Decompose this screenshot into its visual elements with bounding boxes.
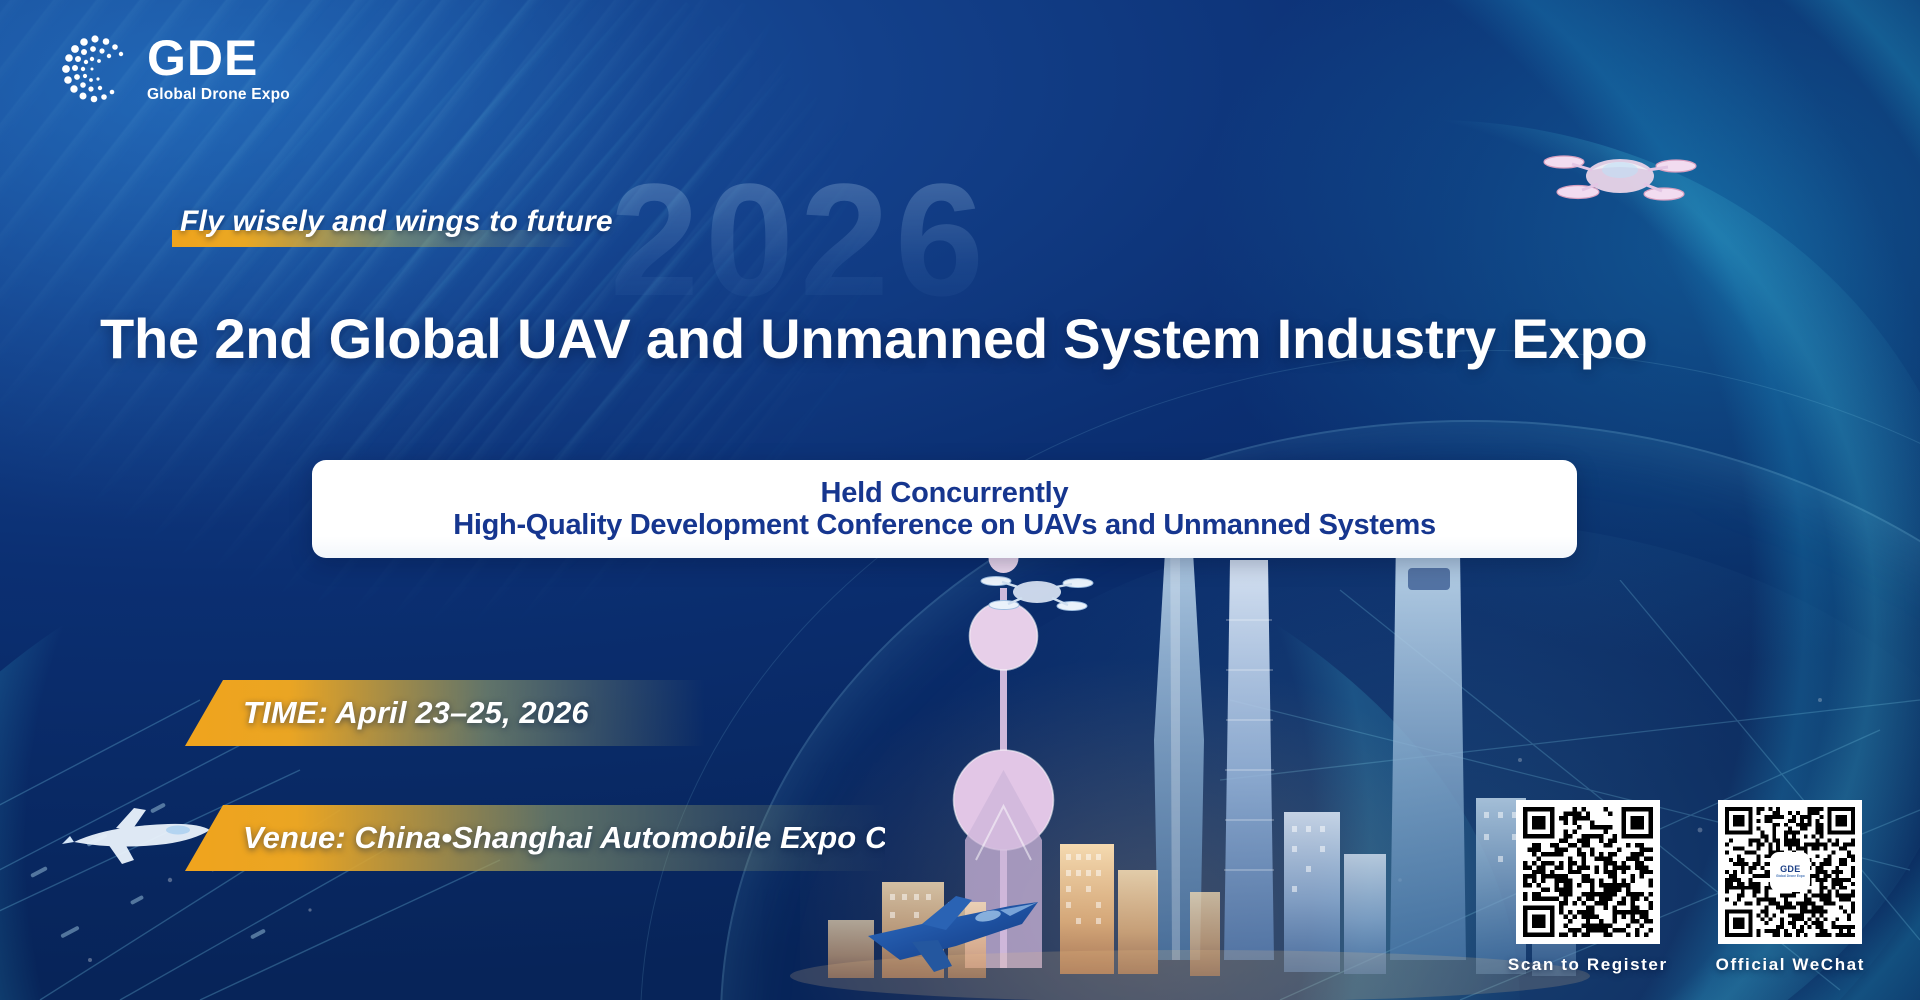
qr-center-subtitle: Global Drone Expo [1776, 875, 1805, 878]
fighter-jet [860, 890, 1045, 985]
brand-name: Global Drone Expo [147, 86, 290, 104]
qr-code-register[interactable] [1516, 800, 1660, 944]
qr-code-wechat[interactable]: GDE Global Drone Expo [1718, 800, 1862, 944]
venue-banner: Venue: China•Shanghai Automobile Expo Ce… [185, 805, 885, 871]
qr-center-logo: GDE Global Drone Expo [1772, 854, 1808, 890]
qr-item-wechat[interactable]: GDE Global Drone Expo Official WeChat [1716, 800, 1865, 975]
page-title: The 2nd Global UAV and Unmanned System I… [100, 310, 1860, 369]
brand-acronym: GDE [147, 34, 290, 83]
concurrent-event-panel: Held Concurrently High-Quality Developme… [312, 460, 1577, 558]
dotted-spiral-logo-icon [55, 30, 133, 108]
tagline-text: Fly wisely and wings to future [172, 205, 613, 239]
qr-caption-register: Scan to Register [1508, 955, 1668, 975]
qr-item-register[interactable]: Scan to Register [1508, 800, 1668, 975]
time-text: TIME: April 23–25, 2026 [243, 695, 589, 731]
venue-text: Venue: China•Shanghai Automobile Expo Ce… [243, 820, 964, 856]
quadcopter-drone-top-right [1540, 140, 1700, 210]
time-banner: TIME: April 23–25, 2026 [185, 680, 705, 746]
concurrent-panel-line2: High-Quality Development Conference on U… [453, 509, 1436, 541]
year-watermark: 2026 [610, 160, 990, 320]
tagline-block: Fly wisely and wings to future [172, 205, 613, 239]
concurrent-panel-line1: Held Concurrently [821, 477, 1069, 509]
quadcopter-drone-middle [980, 565, 1095, 617]
qr-center-acronym: GDE [1780, 865, 1800, 874]
brand-logo-text: GDE Global Drone Expo [147, 34, 290, 104]
brand-logo[interactable]: GDE Global Drone Expo [55, 30, 290, 108]
network-lines-left [0, 580, 760, 1000]
qr-caption-wechat: Official WeChat [1716, 955, 1865, 975]
poster-canvas: GDE Global Drone Expo Fly wisely and win… [0, 0, 1920, 1000]
qr-code-group: Scan to Register GDE Global Drone Expo O… [1508, 800, 1865, 975]
